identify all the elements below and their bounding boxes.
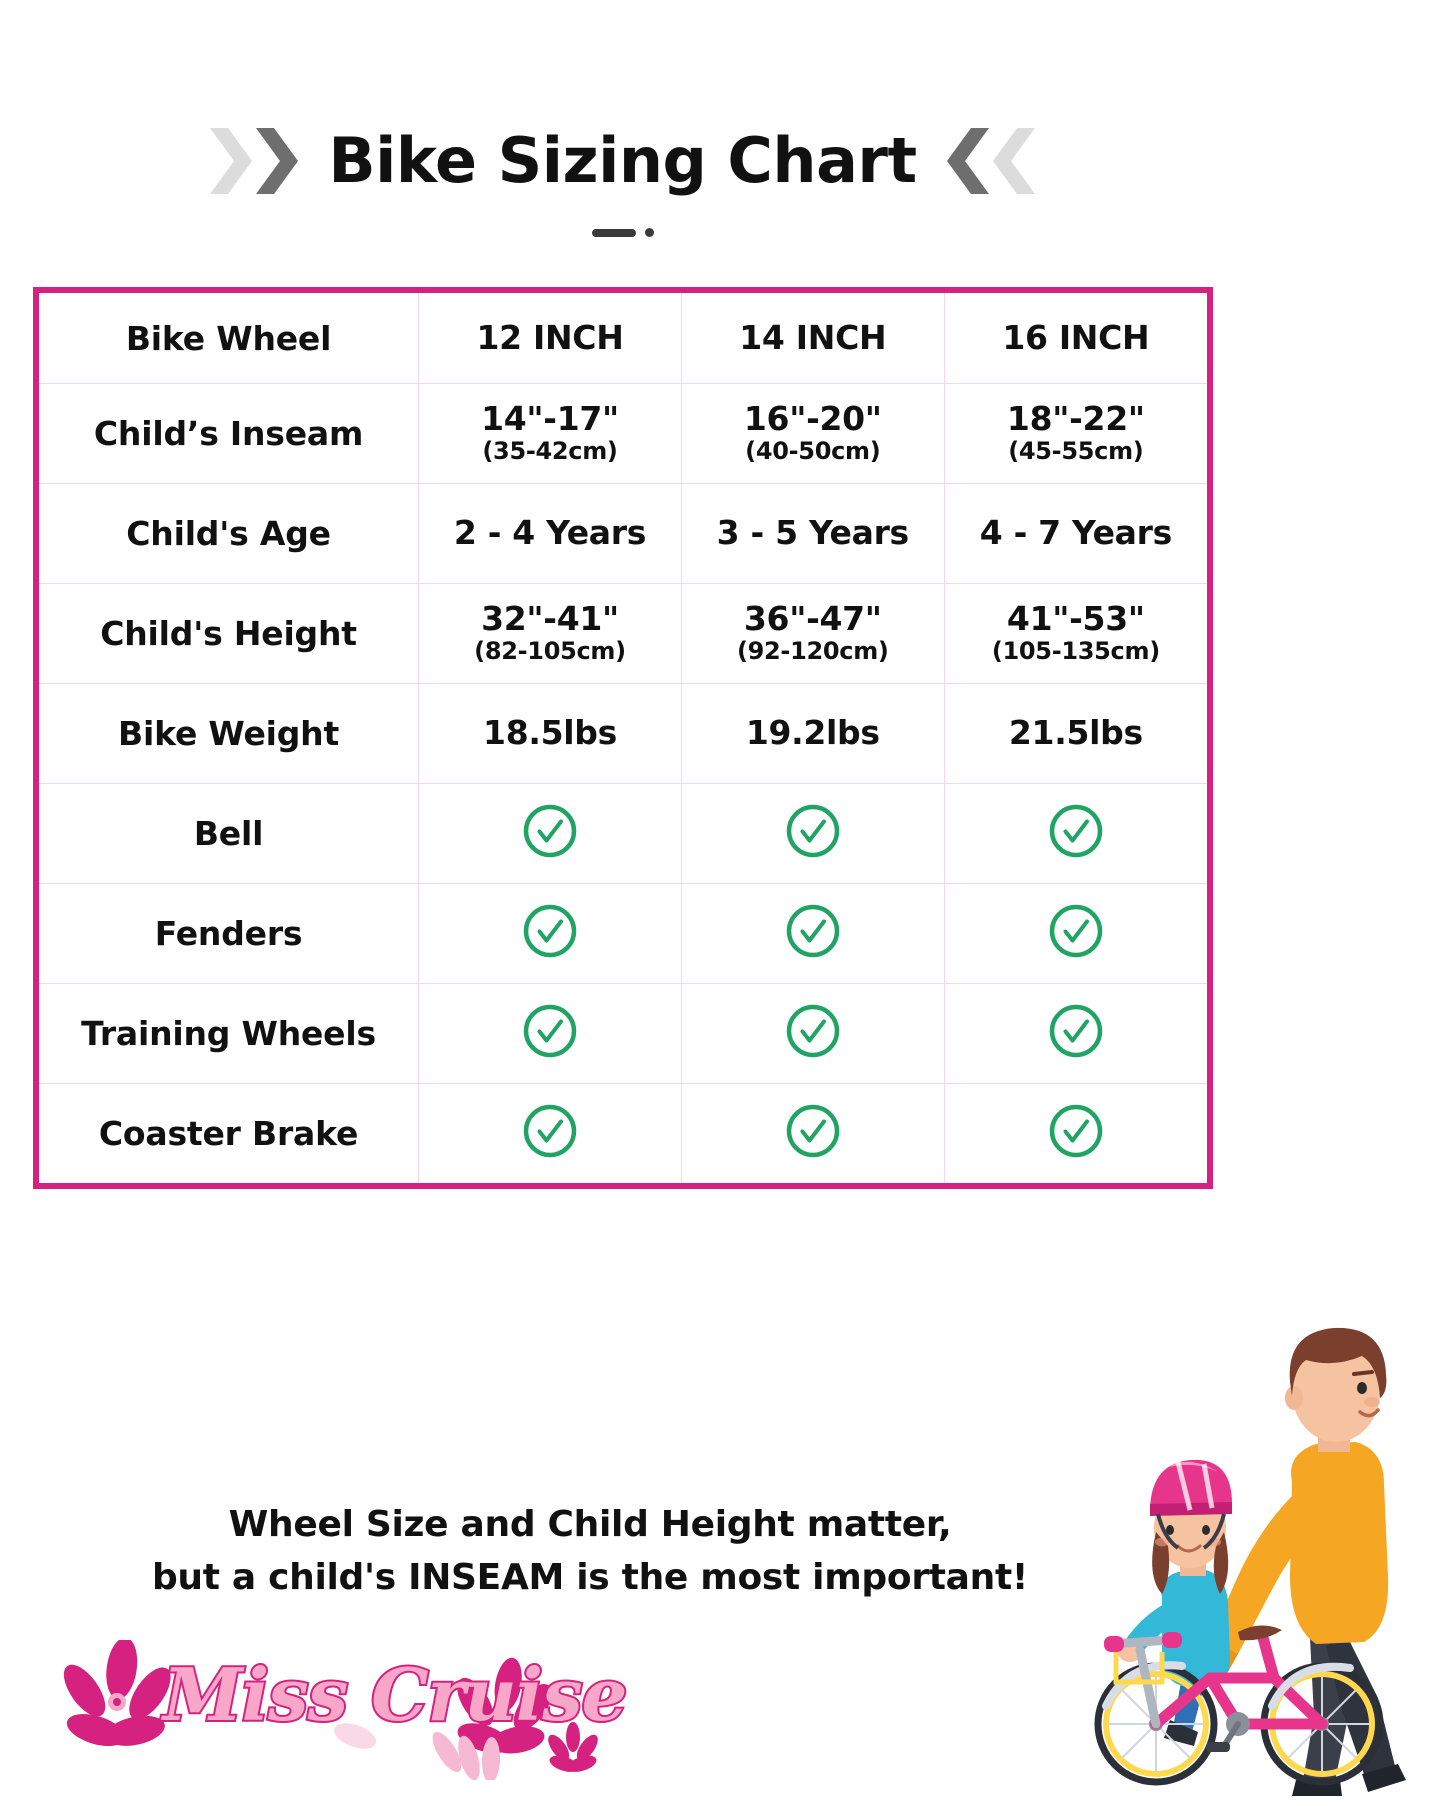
dash-dot-divider-icon [0, 228, 1245, 237]
cell-value-metric: (82-105cm) [419, 638, 681, 666]
cell-height-16: 41"-53" (105-135cm) [944, 584, 1207, 684]
cell-coaster-brake-14 [681, 1084, 944, 1184]
cell-value: 14 INCH [682, 321, 944, 356]
cell-value: 14"-17" [419, 402, 681, 437]
caption-line-2: but a child's INSEAM is the most importa… [0, 1551, 1180, 1604]
row-label-bike-wheel: Bike Wheel [39, 293, 419, 384]
cell-inseam-14: 16"-20" (40-50cm) [681, 384, 944, 484]
cell-coaster-brake-16 [944, 1084, 1207, 1184]
table-row-bell: Bell [39, 784, 1207, 884]
cell-value: 16"-20" [682, 402, 944, 437]
adult-helping-child-ride-bike-illustration [1078, 1246, 1423, 1806]
bike-sizing-table-container: Bike Wheel 12 INCH 14 INCH 16 INCH Child… [33, 287, 1213, 1189]
cell-value-metric: (92-120cm) [682, 638, 944, 666]
cell-fenders-12 [419, 884, 682, 984]
row-label-bell: Bell [39, 784, 419, 884]
cell-height-14: 36"-47" (92-120cm) [681, 584, 944, 684]
row-label-childs-height: Child's Height [39, 584, 419, 684]
cell-value: 12 INCH [419, 321, 681, 356]
check-circle-icon [521, 902, 579, 960]
cell-bell-12 [419, 784, 682, 884]
cell-bell-14 [681, 784, 944, 884]
cell-value: 18.5lbs [419, 716, 681, 751]
check-circle-icon [1047, 1102, 1105, 1160]
cell-value-metric: (35-42cm) [419, 438, 681, 466]
cell-weight-16: 21.5lbs [944, 684, 1207, 784]
cell-training-wheels-14 [681, 984, 944, 1084]
cell-bike-wheel-14: 14 INCH [681, 293, 944, 384]
row-label-childs-age: Child's Age [39, 484, 419, 584]
double-chevron-left-icon [945, 124, 1037, 198]
cell-age-16: 4 - 7 Years [944, 484, 1207, 584]
check-circle-icon [784, 902, 842, 960]
divider-dot [645, 228, 654, 237]
brand-logo: Miss Cruise [55, 1640, 615, 1780]
check-circle-icon [521, 802, 579, 860]
check-circle-icon [784, 802, 842, 860]
row-label-coaster-brake: Coaster Brake [39, 1084, 419, 1184]
check-circle-icon [784, 1102, 842, 1160]
cell-coaster-brake-12 [419, 1084, 682, 1184]
page-header: Bike Sizing Chart [0, 88, 1245, 233]
row-label-text: Bell [39, 814, 418, 853]
logo-wordmark: Miss Cruise [163, 1652, 626, 1737]
double-chevron-right-icon [208, 124, 300, 198]
cell-value-metric: (105-135cm) [945, 638, 1207, 666]
cell-fenders-14 [681, 884, 944, 984]
cell-value: 4 - 7 Years [945, 516, 1207, 551]
cell-value: 18"-22" [945, 402, 1207, 437]
cell-value: 2 - 4 Years [419, 516, 681, 551]
row-label-text: Child's Age [39, 514, 418, 553]
cell-bike-wheel-16: 16 INCH [944, 293, 1207, 384]
row-label-text: Training Wheels [39, 1014, 418, 1053]
check-circle-icon [1047, 902, 1105, 960]
row-label-text: Child’s Inseam [39, 414, 418, 453]
cell-value: 32"-41" [419, 602, 681, 637]
footer-caption: Wheel Size and Child Height matter, but … [0, 1498, 1180, 1605]
row-label-text: Fenders [39, 914, 418, 953]
cell-fenders-16 [944, 884, 1207, 984]
row-label-fenders: Fenders [39, 884, 419, 984]
cell-age-12: 2 - 4 Years [419, 484, 682, 584]
bike-sizing-table: Bike Wheel 12 INCH 14 INCH 16 INCH Child… [39, 293, 1207, 1183]
cell-value: 21.5lbs [945, 716, 1207, 751]
row-label-bike-weight: Bike Weight [39, 684, 419, 784]
divider-dash [592, 229, 636, 237]
cell-bell-16 [944, 784, 1207, 884]
row-label-childs-inseam: Child’s Inseam [39, 384, 419, 484]
cell-training-wheels-12 [419, 984, 682, 1084]
cell-value: 41"-53" [945, 602, 1207, 637]
table-row-childs-inseam: Child’s Inseam 14"-17" (35-42cm) 16"-20"… [39, 384, 1207, 484]
cell-value: 19.2lbs [682, 716, 944, 751]
cell-value: 3 - 5 Years [682, 516, 944, 551]
cell-weight-12: 18.5lbs [419, 684, 682, 784]
caption-line-1: Wheel Size and Child Height matter, [0, 1498, 1180, 1551]
cell-training-wheels-16 [944, 984, 1207, 1084]
table-row-coaster-brake: Coaster Brake [39, 1084, 1207, 1184]
cell-age-14: 3 - 5 Years [681, 484, 944, 584]
row-label-text: Bike Wheel [39, 319, 418, 358]
row-label-training-wheels: Training Wheels [39, 984, 419, 1084]
cell-inseam-12: 14"-17" (35-42cm) [419, 384, 682, 484]
table-row-childs-age: Child's Age 2 - 4 Years 3 - 5 Years 4 - … [39, 484, 1207, 584]
check-circle-icon [521, 1102, 579, 1160]
check-circle-icon [521, 1002, 579, 1060]
cell-value: 16 INCH [945, 321, 1207, 356]
table-row-training-wheels: Training Wheels [39, 984, 1207, 1084]
page-title: Bike Sizing Chart [328, 130, 916, 192]
cell-height-12: 32"-41" (82-105cm) [419, 584, 682, 684]
table-row-fenders: Fenders [39, 884, 1207, 984]
table-row-bike-wheel: Bike Wheel 12 INCH 14 INCH 16 INCH [39, 293, 1207, 384]
cell-value-metric: (45-55cm) [945, 438, 1207, 466]
check-circle-icon [1047, 1002, 1105, 1060]
row-label-text: Bike Weight [39, 714, 418, 753]
table-row-childs-height: Child's Height 32"-41" (82-105cm) 36"-47… [39, 584, 1207, 684]
row-label-text: Coaster Brake [39, 1114, 418, 1153]
cell-value: 36"-47" [682, 602, 944, 637]
cell-bike-wheel-12: 12 INCH [419, 293, 682, 384]
check-circle-icon [1047, 802, 1105, 860]
row-label-text: Child's Height [39, 614, 418, 653]
check-circle-icon [784, 1002, 842, 1060]
cell-value-metric: (40-50cm) [682, 438, 944, 466]
cell-weight-14: 19.2lbs [681, 684, 944, 784]
cell-inseam-16: 18"-22" (45-55cm) [944, 384, 1207, 484]
table-row-bike-weight: Bike Weight 18.5lbs 19.2lbs 21.5lbs [39, 684, 1207, 784]
